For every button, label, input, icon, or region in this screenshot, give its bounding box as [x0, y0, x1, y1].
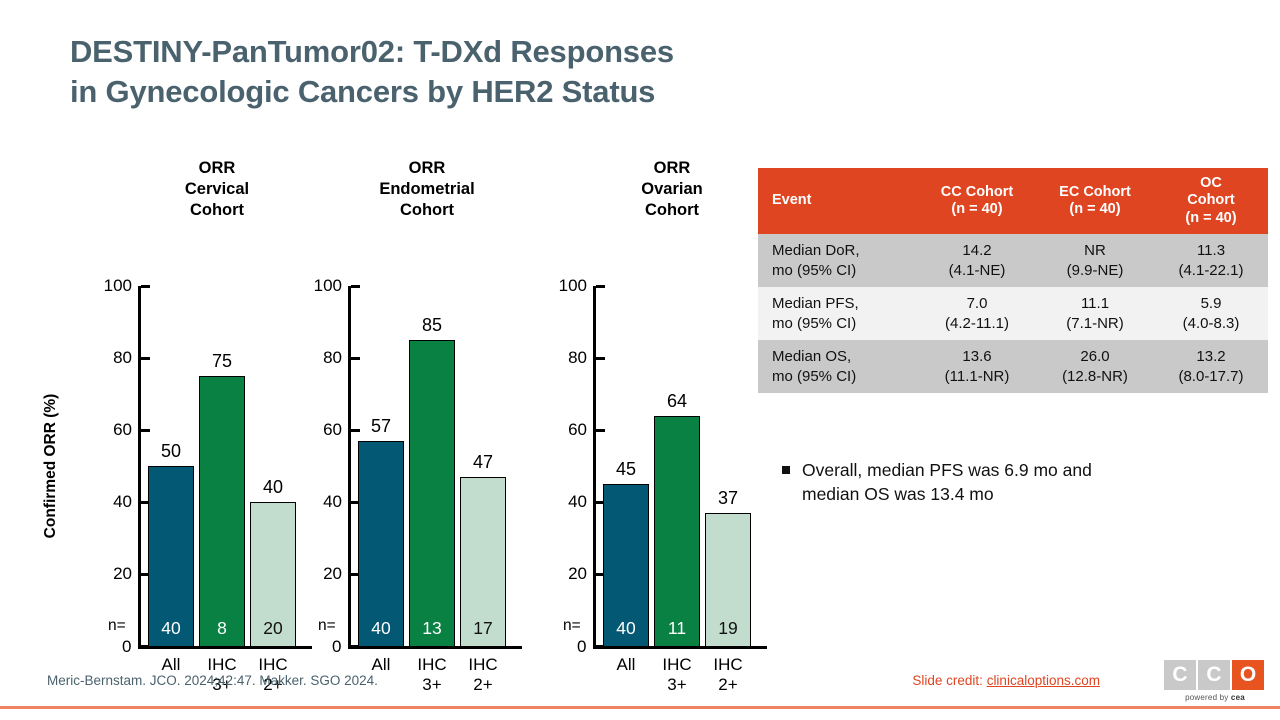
x-axis-category-label: All — [142, 655, 200, 675]
y-tick — [141, 429, 150, 432]
cell-line: 11.3 — [1160, 241, 1262, 261]
bar-0 — [358, 441, 404, 646]
y-tick — [596, 429, 605, 432]
cell-line: 7.0 — [924, 294, 1030, 314]
chart-title-line: Cohort — [563, 200, 781, 221]
chart-title-line: Endometrial — [318, 179, 536, 200]
x-cat-line-1: All — [352, 655, 410, 675]
cell-line: (12.8-NR) — [1042, 367, 1148, 387]
powered-brand: cea — [1231, 693, 1245, 702]
table-row: Median DoR,mo (95% CI)14.2(4.1-NE)NR(9.9… — [758, 234, 1268, 287]
col-header-line: CC Cohort — [924, 184, 1030, 201]
x-cat-line-1: All — [142, 655, 200, 675]
cell-line: Median OS, — [772, 347, 912, 367]
x-axis-category-label: IHC3+ — [648, 655, 706, 694]
bar-n-label: 40 — [358, 620, 404, 648]
cco-logo-boxes: C C O — [1164, 660, 1266, 690]
x-cat-line-1: IHC — [699, 655, 757, 675]
col-header-line: (n = 40) — [1042, 201, 1148, 218]
slide-root: DESTINY-PanTumor02: T-DXd Responses in G… — [0, 0, 1280, 720]
y-tick-label: 60 — [302, 420, 342, 440]
table-cell-cc: 7.0(4.2-11.1) — [918, 287, 1036, 340]
cell-line: 5.9 — [1160, 294, 1262, 314]
col-header-line: EC Cohort — [1042, 184, 1148, 201]
y-axis-line — [593, 286, 596, 649]
logo-letter-c2: C — [1198, 660, 1230, 690]
col-header-cc: CC Cohort(n = 40) — [918, 168, 1036, 234]
footer-divider — [0, 706, 1280, 709]
bullet-text: Overall, median PFS was 6.9 mo and media… — [802, 458, 1092, 506]
y-tick — [351, 285, 360, 288]
bar-n-label: 40 — [148, 620, 194, 648]
table-cell-cc: 13.6(11.1-NR) — [918, 340, 1036, 393]
cell-line: (9.9-NE) — [1042, 261, 1148, 281]
logo-letter-o: O — [1232, 660, 1264, 690]
citation: Meric-Bernstam. JCO. 2024;42:47. Makker.… — [47, 673, 378, 688]
bar-value-label: 37 — [705, 489, 751, 507]
col-header-line: OC — [1160, 175, 1262, 192]
title-line-1: DESTINY-PanTumor02: T-DXd Responses — [70, 32, 970, 72]
cell-line: 13.6 — [924, 347, 1030, 367]
chart-title: ORROvarianCohort — [563, 158, 781, 222]
y-tick-label: 80 — [92, 348, 132, 368]
chart-3: ORROvarianCohort100806040200n=4540All641… — [555, 158, 774, 658]
bar-n-label: 13 — [409, 620, 455, 648]
y-tick-label: 40 — [302, 492, 342, 512]
slide-credit: Slide credit: clinicaloptions.com — [912, 673, 1100, 688]
chart-1: ORRCervicalCohortConfirmed ORR (%)100806… — [20, 158, 319, 658]
col-header-ec: EC Cohort(n = 40) — [1036, 168, 1154, 234]
cell-line: (4.0-8.3) — [1160, 314, 1262, 334]
chart-2: ORREndometrialCohort100806040200n=5740Al… — [300, 158, 529, 658]
bar-1 — [409, 340, 455, 646]
table-cell-ec: 26.0(12.8-NR) — [1036, 340, 1154, 393]
x-axis-category-label: All — [597, 655, 655, 675]
slide-credit-label: Slide credit: — [912, 673, 986, 688]
bullet-line-2: median OS was 13.4 mo — [802, 484, 994, 504]
col-header-event: Event — [758, 168, 918, 234]
y-tick-label: 80 — [547, 348, 587, 368]
bar-value-label: 75 — [199, 352, 245, 370]
slide-credit-link[interactable]: clinicaloptions.com — [987, 673, 1100, 688]
y-tick — [141, 285, 150, 288]
table-cell-oc: 5.9(4.0-8.3) — [1154, 287, 1268, 340]
chart-title-line: Cervical — [108, 179, 326, 200]
cell-line: (11.1-NR) — [924, 367, 1030, 387]
cco-logo: C C O powered by cea — [1164, 660, 1266, 702]
y-axis-zero-label: 0 — [332, 638, 341, 655]
y-axis-line — [348, 286, 351, 649]
powered-prefix: powered by — [1185, 693, 1231, 702]
x-axis-category-label: All — [352, 655, 410, 675]
bar-1 — [199, 376, 245, 646]
bar-1 — [654, 416, 700, 646]
col-header-oc: OCCohort(n = 40) — [1154, 168, 1268, 234]
cell-line: (8.0-17.7) — [1160, 367, 1262, 387]
cell-line: 11.1 — [1042, 294, 1148, 314]
cell-line: Median PFS, — [772, 294, 912, 314]
y-tick-label: 60 — [547, 420, 587, 440]
table-cell-event: Median OS,mo (95% CI) — [758, 340, 918, 393]
x-axis-category-label: IHC2+ — [699, 655, 757, 694]
y-tick-label: 100 — [302, 276, 342, 296]
outcomes-table-container: Event CC Cohort(n = 40) EC Cohort(n = 40… — [758, 168, 1268, 393]
bar-n-label: 11 — [654, 620, 700, 648]
chart-title: ORRCervicalCohort — [108, 158, 326, 222]
cell-line: (4.1-NE) — [924, 261, 1030, 281]
page-title: DESTINY-PanTumor02: T-DXd Responses in G… — [70, 32, 970, 111]
y-tick-label: 20 — [302, 564, 342, 584]
cell-line: (4.2-11.1) — [924, 314, 1030, 334]
table-cell-event: Median DoR,mo (95% CI) — [758, 234, 918, 287]
y-axis-zero-label: 0 — [122, 638, 131, 655]
col-header-line: Event — [772, 192, 912, 209]
col-header-line: Cohort — [1160, 192, 1262, 209]
bar-value-label: 40 — [250, 478, 296, 496]
y-tick-label: 80 — [302, 348, 342, 368]
y-tick-label: 60 — [92, 420, 132, 440]
cell-line: (7.1-NR) — [1042, 314, 1148, 334]
y-tick-label: 20 — [92, 564, 132, 584]
title-line-2: in Gynecologic Cancers by HER2 Status — [70, 72, 970, 112]
cell-line: NR — [1042, 241, 1148, 261]
x-cat-line-2: 2+ — [699, 675, 757, 695]
table-cell-oc: 13.2(8.0-17.7) — [1154, 340, 1268, 393]
bar-value-label: 64 — [654, 392, 700, 410]
table-body: Median DoR,mo (95% CI)14.2(4.1-NE)NR(9.9… — [758, 234, 1268, 393]
x-cat-line-1: IHC — [648, 655, 706, 675]
chart-title-line: ORR — [108, 158, 326, 179]
cell-line: mo (95% CI) — [772, 367, 912, 387]
x-cat-line-1: IHC — [403, 655, 461, 675]
x-axis-category-label: IHC2+ — [454, 655, 512, 694]
table-header: Event CC Cohort(n = 40) EC Cohort(n = 40… — [758, 168, 1268, 234]
bar-n-label: 17 — [460, 620, 506, 648]
cell-line: 13.2 — [1160, 347, 1262, 367]
cell-line: (4.1-22.1) — [1160, 261, 1262, 281]
bar-value-label: 57 — [358, 417, 404, 435]
table-cell-oc: 11.3(4.1-22.1) — [1154, 234, 1268, 287]
chart-title-line: Cohort — [108, 200, 326, 221]
cell-line: 26.0 — [1042, 347, 1148, 367]
n-equals-label: n= — [108, 618, 126, 634]
plot-area: Confirmed ORR (%)100806040200n=5040All75… — [20, 222, 319, 652]
bar-n-label: 20 — [250, 620, 296, 648]
x-cat-line-2: 2+ — [454, 675, 512, 695]
y-tick-label: 40 — [92, 492, 132, 512]
bullet-line-1: Overall, median PFS was 6.9 mo and — [802, 460, 1092, 480]
cell-line: mo (95% CI) — [772, 314, 912, 334]
bar-value-label: 50 — [148, 442, 194, 460]
y-axis-label: Confirmed ORR (%) — [42, 351, 60, 581]
x-cat-line-2: 3+ — [648, 675, 706, 695]
cell-line: mo (95% CI) — [772, 261, 912, 281]
y-tick — [141, 357, 150, 360]
charts-container: ORRCervicalCohortConfirmed ORR (%)100806… — [0, 158, 760, 658]
chart-title: ORREndometrialCohort — [318, 158, 536, 222]
table-row: Median OS,mo (95% CI)13.6(11.1-NR)26.0(1… — [758, 340, 1268, 393]
table-row: Median PFS,mo (95% CI)7.0(4.2-11.1)11.1(… — [758, 287, 1268, 340]
plot-area: 100806040200n=5740All8513IHC3+4717IHC2+ — [300, 222, 529, 652]
x-cat-line-1: IHC — [454, 655, 512, 675]
bar-value-label: 47 — [460, 453, 506, 471]
y-tick-label: 100 — [92, 276, 132, 296]
cell-line: Median DoR, — [772, 241, 912, 261]
n-equals-label: n= — [318, 618, 336, 634]
chart-title-line: Cohort — [318, 200, 536, 221]
y-tick — [596, 357, 605, 360]
summary-bullet: Overall, median PFS was 6.9 mo and media… — [782, 458, 1212, 506]
cell-line: 14.2 — [924, 241, 1030, 261]
outcomes-table: Event CC Cohort(n = 40) EC Cohort(n = 40… — [758, 168, 1268, 393]
logo-powered-by: powered by cea — [1164, 693, 1266, 702]
table-cell-ec: NR(9.9-NE) — [1036, 234, 1154, 287]
col-header-line: (n = 40) — [1160, 210, 1262, 227]
bullet-square-icon — [782, 466, 790, 474]
y-tick-label: 40 — [547, 492, 587, 512]
bar-n-label: 19 — [705, 620, 751, 648]
y-tick — [596, 285, 605, 288]
x-cat-line-2: 3+ — [403, 675, 461, 695]
x-cat-line-1: IHC — [244, 655, 302, 675]
table-header-row: Event CC Cohort(n = 40) EC Cohort(n = 40… — [758, 168, 1268, 234]
y-tick — [351, 357, 360, 360]
table-cell-cc: 14.2(4.1-NE) — [918, 234, 1036, 287]
n-equals-label: n= — [563, 618, 581, 634]
x-axis-category-label: IHC3+ — [403, 655, 461, 694]
y-tick-label: 20 — [547, 564, 587, 584]
table-cell-event: Median PFS,mo (95% CI) — [758, 287, 918, 340]
y-axis-zero-label: 0 — [577, 638, 586, 655]
chart-title-line: Ovarian — [563, 179, 781, 200]
plot-area: 100806040200n=4540All6411IHC3+3719IHC2+ — [555, 222, 774, 652]
bar-n-label: 40 — [603, 620, 649, 648]
bar-value-label: 45 — [603, 460, 649, 478]
bar-value-label: 85 — [409, 316, 455, 334]
x-cat-line-1: All — [597, 655, 655, 675]
bar-n-label: 8 — [199, 620, 245, 648]
col-header-line: (n = 40) — [924, 201, 1030, 218]
chart-title-line: ORR — [318, 158, 536, 179]
chart-title-line: ORR — [563, 158, 781, 179]
x-cat-line-1: IHC — [193, 655, 251, 675]
y-tick-label: 100 — [547, 276, 587, 296]
y-axis-line — [138, 286, 141, 649]
logo-letter-c1: C — [1164, 660, 1196, 690]
table-cell-ec: 11.1(7.1-NR) — [1036, 287, 1154, 340]
